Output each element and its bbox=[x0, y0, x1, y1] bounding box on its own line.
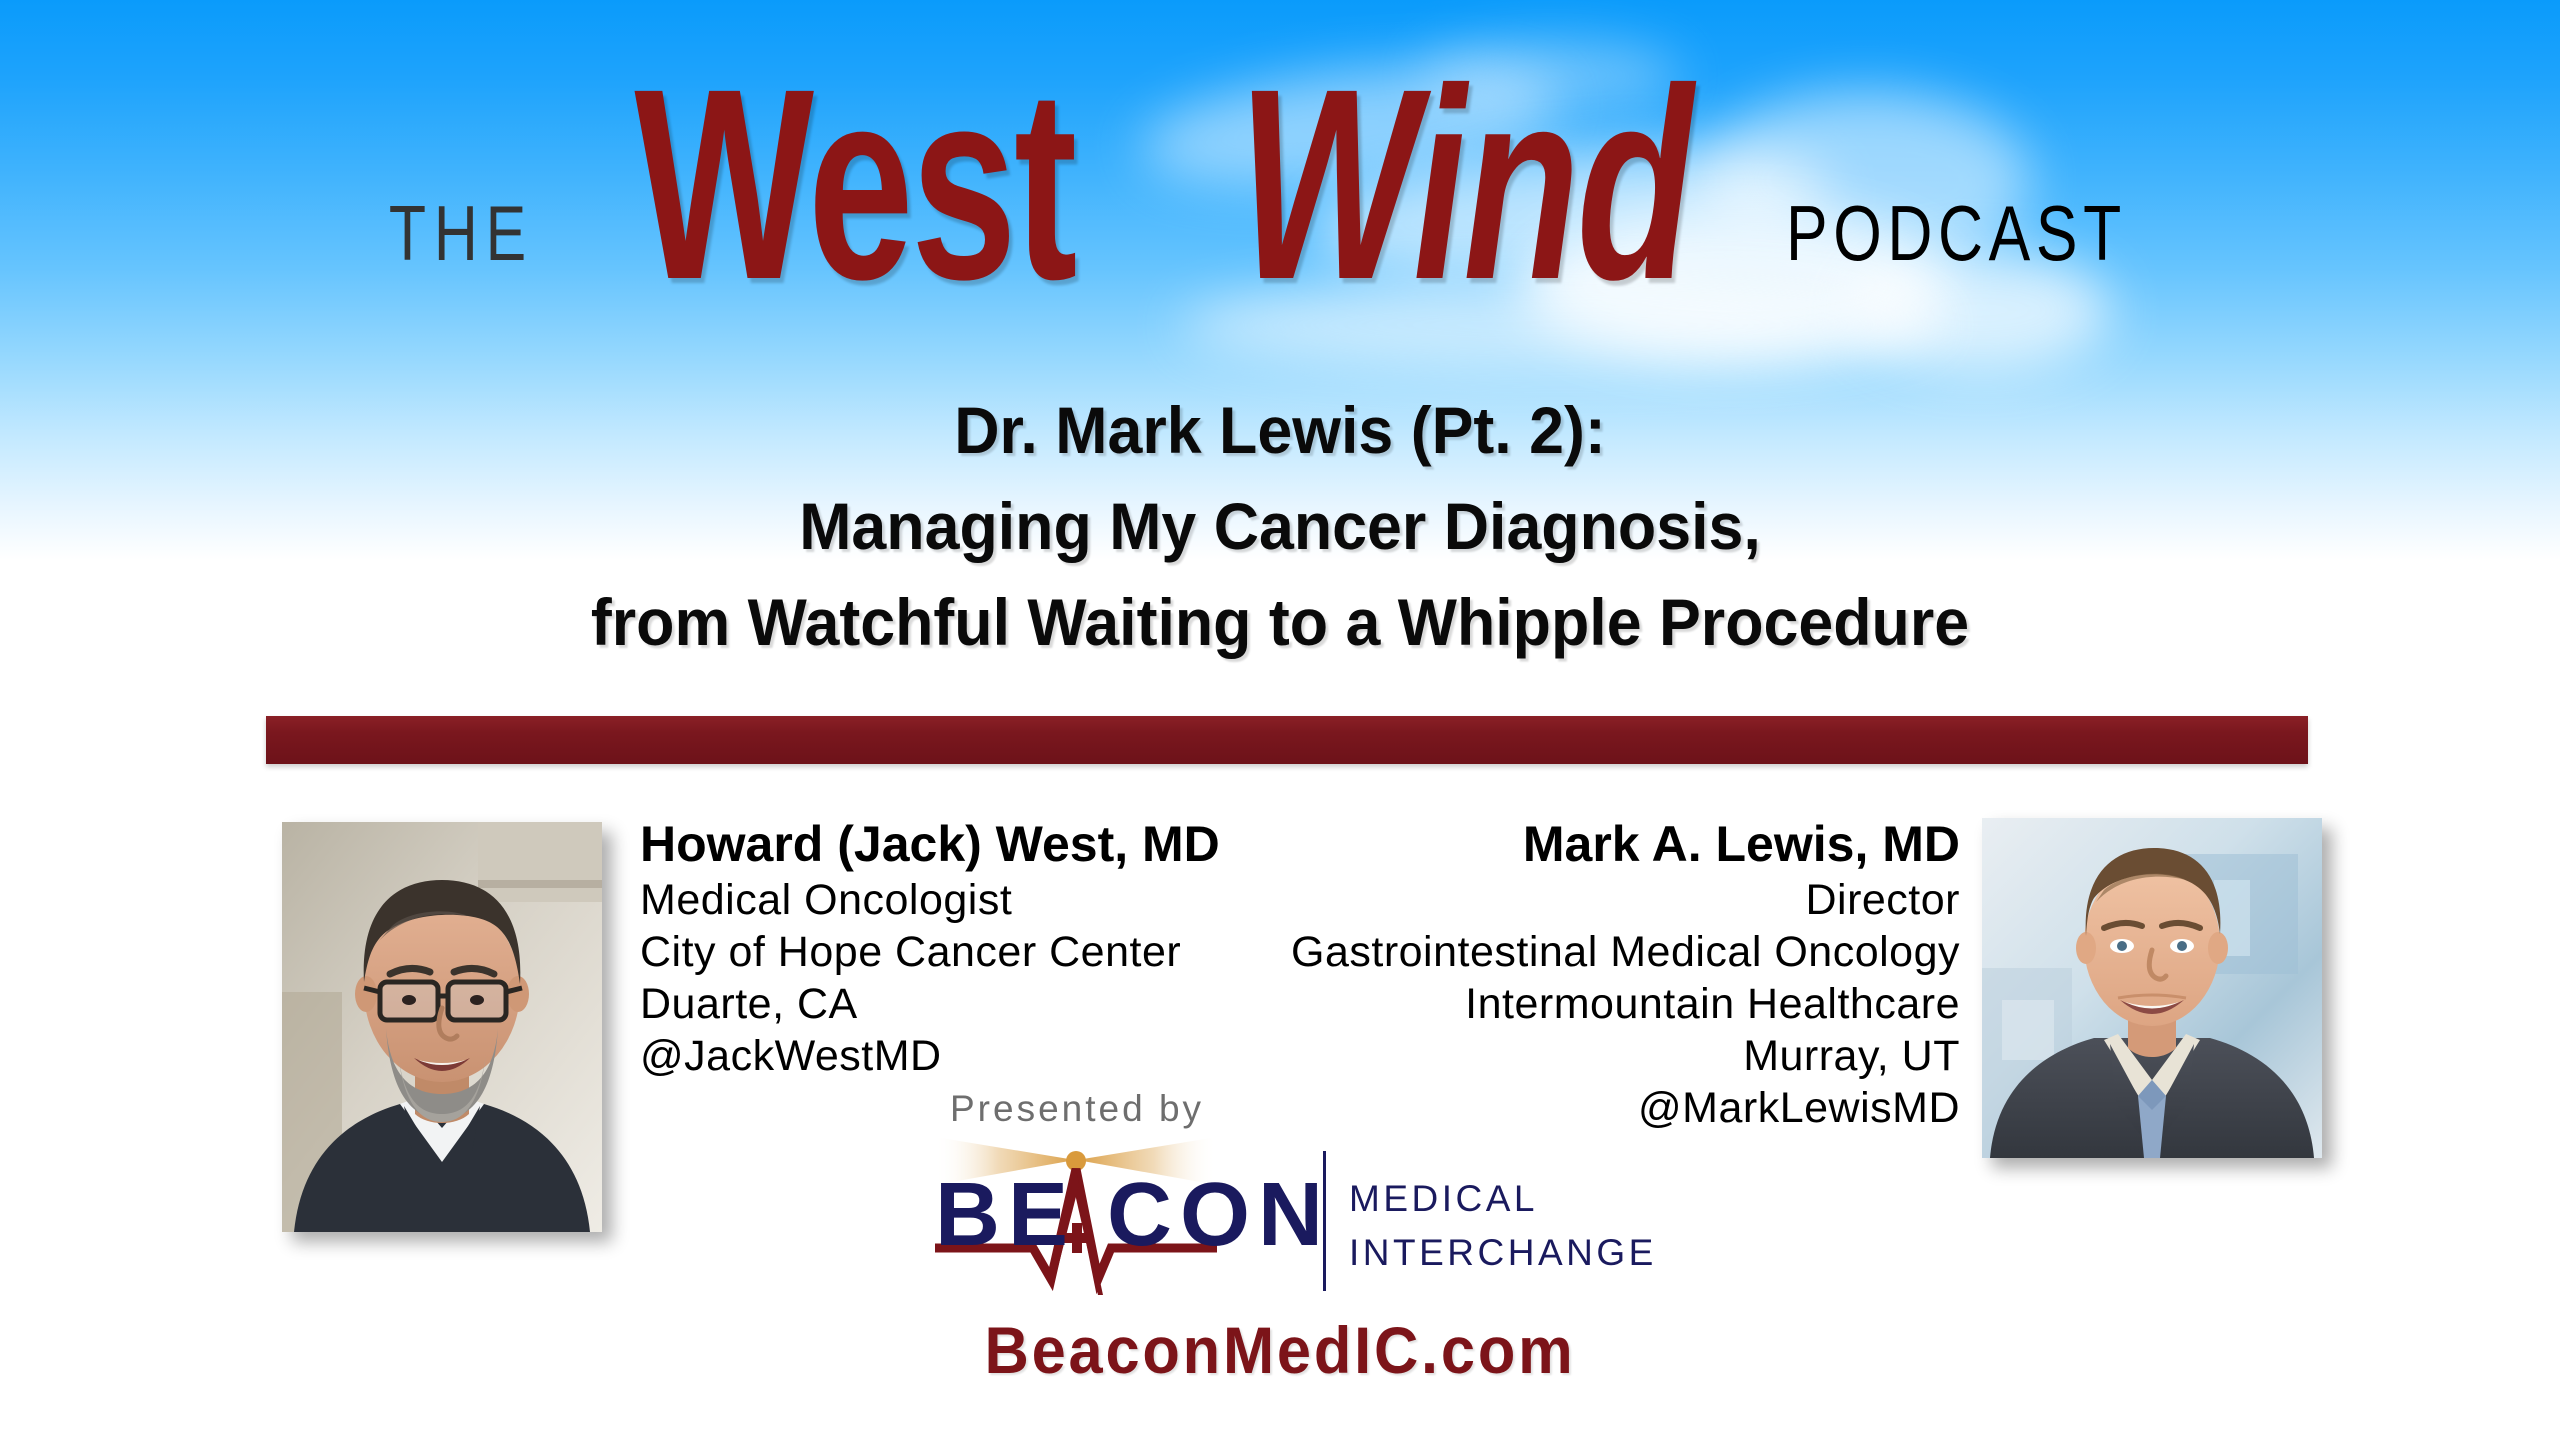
speaker-left-handle: @JackWestMD bbox=[640, 1030, 1280, 1082]
presented-by-label: Presented by bbox=[950, 1088, 1204, 1130]
brand-wind-wordmark: Wind bbox=[1238, 48, 1690, 320]
speaker-left-name: Howard (Jack) West, MD bbox=[640, 814, 1280, 874]
podcast-brand-lockup: THE West Wind PODCAST bbox=[0, 20, 2560, 320]
speaker-right-location: Murray, UT bbox=[1280, 1030, 1960, 1082]
headshot-left-illustration bbox=[282, 822, 602, 1232]
brand-west-wordmark: West bbox=[635, 48, 1075, 320]
logo-divider-rule bbox=[1323, 1151, 1326, 1291]
beacon-wordmark-right: CON bbox=[1107, 1165, 1331, 1265]
sponsor-website-link[interactable]: BeaconMedIC.com bbox=[90, 1312, 2471, 1388]
speaker-right-affiliation: Intermountain Healthcare bbox=[1280, 978, 1960, 1030]
section-divider-bar bbox=[266, 716, 2308, 764]
speaker-left-affiliation: City of Hope Cancer Center bbox=[640, 926, 1280, 978]
speaker-left-location: Duarte, CA bbox=[640, 978, 1280, 1030]
speaker-right-role: Director bbox=[1280, 874, 1960, 926]
speaker-info-left: Howard (Jack) West, MD Medical Oncologis… bbox=[640, 814, 1280, 1082]
logo-tagline-line-1: MEDICAL bbox=[1349, 1178, 1538, 1219]
brand-podcast-label: PODCAST bbox=[1786, 194, 2127, 272]
speaker-info-right: Mark A. Lewis, MD Director Gastrointesti… bbox=[1280, 814, 1960, 1134]
logo-tagline-line-2: INTERCHANGE bbox=[1349, 1232, 1655, 1273]
episode-title: Dr. Mark Lewis (Pt. 2): Managing My Canc… bbox=[0, 382, 2560, 670]
speaker-right-name: Mark A. Lewis, MD bbox=[1280, 814, 1960, 874]
beacon-wordmark-left: BE bbox=[935, 1165, 1076, 1265]
beacon-logo-graphic: BE CON MEDICAL INTERCHANGE bbox=[925, 1133, 1655, 1308]
avatar-speaker-right bbox=[1982, 818, 2322, 1158]
speaker-left-role: Medical Oncologist bbox=[640, 874, 1280, 926]
beacon-medical-interchange-logo[interactable]: BE CON MEDICAL INTERCHANGE bbox=[925, 1133, 1655, 1308]
episode-title-line-3: from Watchful Waiting to a Whipple Proce… bbox=[64, 574, 2496, 670]
speaker-right-handle: @MarkLewisMD bbox=[1280, 1082, 1960, 1134]
headshot-right-illustration bbox=[1982, 818, 2322, 1158]
podcast-title-card: THE West Wind PODCAST Dr. Mark Lewis (Pt… bbox=[0, 0, 2560, 1440]
speaker-right-department: Gastrointestinal Medical Oncology bbox=[1280, 926, 1960, 978]
episode-title-line-1: Dr. Mark Lewis (Pt. 2): bbox=[64, 382, 2496, 478]
avatar-speaker-left bbox=[282, 822, 602, 1232]
episode-title-line-2: Managing My Cancer Diagnosis, bbox=[64, 478, 2496, 574]
brand-the-label: THE bbox=[389, 194, 534, 272]
